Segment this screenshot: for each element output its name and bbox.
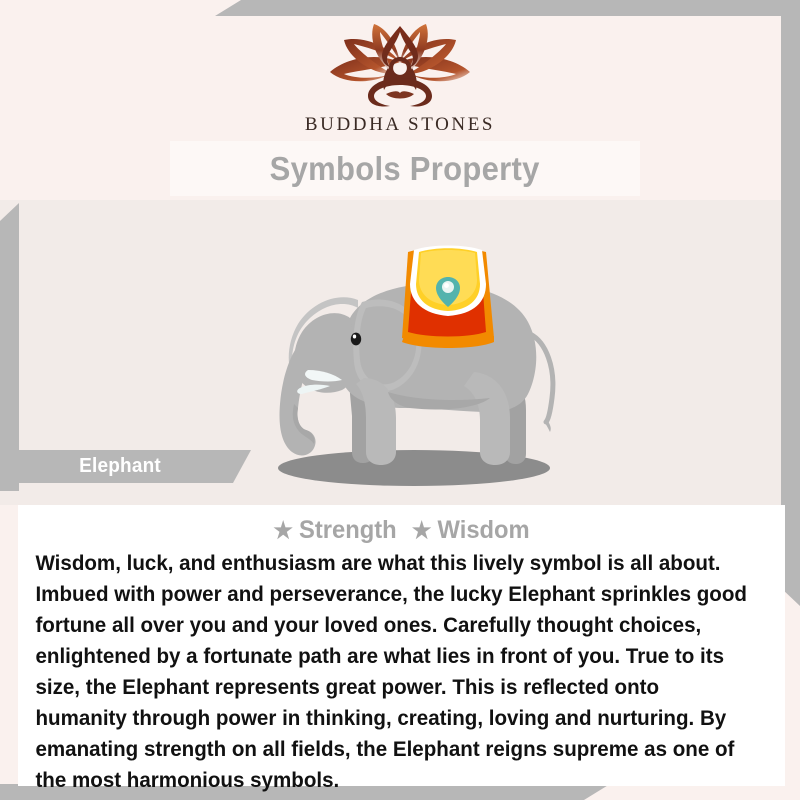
elephant-eye [351,333,361,346]
brand-logo: BUDDHA STONES [0,22,800,136]
star-icon: ★ [273,517,299,543]
page-title: Symbols Property [270,150,540,188]
trait-wisdom: ★ Wisdom [412,516,530,544]
trait-list: ★ Strength★ Wisdom [37,505,766,545]
trait-strength-label: Strength [299,516,397,544]
lotus-meditation-icon [316,22,484,110]
decor-bar-top [215,0,800,16]
decor-bar-left [0,203,19,491]
trait-strength: ★ Strength [273,516,396,544]
trait-wisdom-label: Wisdom [438,516,530,544]
brand-name: BUDDHA STONES [0,114,800,136]
star-icon: ★ [412,517,438,543]
symbol-name-banner: Elephant [19,450,251,483]
description-card: ★ Strength★ Wisdom Wisdom, luck, and ent… [18,505,785,786]
title-band: Symbols Property [170,141,640,196]
symbol-property-card: BUDDHA STONES Symbols Property [0,0,800,800]
elephant-illustration [238,222,588,497]
description-text: Wisdom, luck, and enthusiasm are what th… [18,545,762,796]
symbol-name: Elephant [79,455,161,478]
